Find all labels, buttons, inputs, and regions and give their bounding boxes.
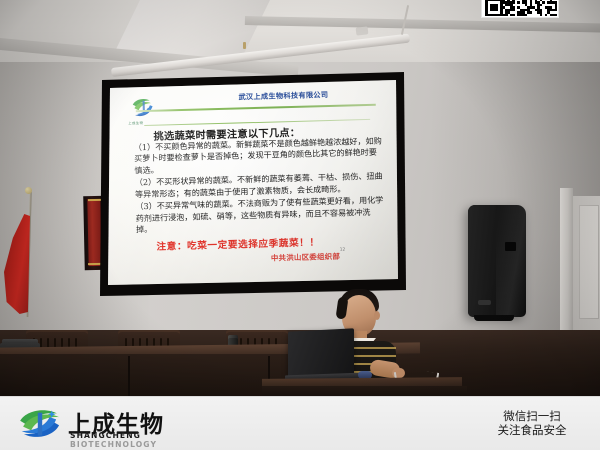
- slide-company-header: 武汉上成生物科技有限公司: [238, 90, 328, 102]
- screenshot-root: 上成生物 武汉上成生物科技有限公司 挑选蔬菜时需要注意以下几点： （1）不买颜色…: [0, 0, 600, 450]
- company-logo-icon: [18, 406, 62, 440]
- desk-panel-seam: [128, 356, 130, 400]
- qr-code-matrix: [485, 0, 555, 14]
- company-logo-en-secondary: BIOTECHNOLOGY: [70, 440, 157, 449]
- flag-pole-finial: [25, 187, 32, 194]
- slide-logo-caption: 上成生物: [128, 120, 143, 125]
- slide-stamp: 中共洪山区委组织部: [271, 251, 340, 264]
- laptop-screen: [288, 328, 354, 379]
- slide-logo-icon: [130, 95, 157, 122]
- presenter-ear: [374, 311, 380, 320]
- qr-caption-line-2: 关注食品安全: [469, 424, 595, 438]
- banner-gold-trim-bottom: [88, 263, 101, 265]
- company-logo-en-primary: SHANGCHENG: [70, 431, 141, 440]
- brand-bar: 上成生物 SHANGCHENG BIOTECHNOLOGY 微信扫一扫 关注食品…: [0, 396, 600, 450]
- slide-header-rule: [136, 104, 376, 112]
- qr-caption: 微信扫一扫 关注食品安全: [469, 410, 595, 437]
- door-panel-inset: [579, 205, 599, 319]
- qr-code: [481, 0, 559, 18]
- loudspeaker-port: [505, 242, 516, 251]
- qr-caption-line-1: 微信扫一扫: [469, 410, 595, 424]
- loudspeaker-base: [474, 315, 514, 321]
- red-wall-banner-inner: [87, 199, 101, 266]
- slide-note: 注意：吃菜一定要选择应季蔬菜！！: [156, 234, 319, 252]
- slide-page-number: 12: [340, 248, 346, 253]
- banner-gold-trim-top: [88, 199, 101, 201]
- slide-body: （1）不买颜色异常的蔬菜。新鲜蔬菜不是颜色越鲜艳越浓越好，如购买萝卜时要检查萝卜…: [134, 136, 386, 238]
- company-logo: 上成生物 SHANGCHENG BIOTECHNOLOGY: [18, 404, 193, 444]
- roller-end-cap: [356, 26, 369, 35]
- projection-screen: 上成生物 武汉上成生物科技有限公司 挑选蔬菜时需要注意以下几点： （1）不买颜色…: [108, 80, 398, 285]
- roller-pull-knob: [243, 42, 246, 49]
- loudspeaker-brand-badge: [478, 300, 491, 305]
- company-logo-en: SHANGCHENG BIOTECHNOLOGY: [70, 431, 193, 449]
- slide-bullet: （3）不买异常气味的蔬菜。不法商贩为了使有些蔬菜更好看，用化学药剂进行浸泡，如硫…: [135, 195, 386, 236]
- presentation-slide: 上成生物 武汉上成生物科技有限公司 挑选蔬菜时需要注意以下几点： （1）不买颜色…: [108, 80, 398, 285]
- slide-bullet: （1）不买颜色异常的蔬菜。新鲜蔬菜不是颜色越鲜艳越浓越好，如购买萝卜时要检查萝卜…: [134, 136, 385, 177]
